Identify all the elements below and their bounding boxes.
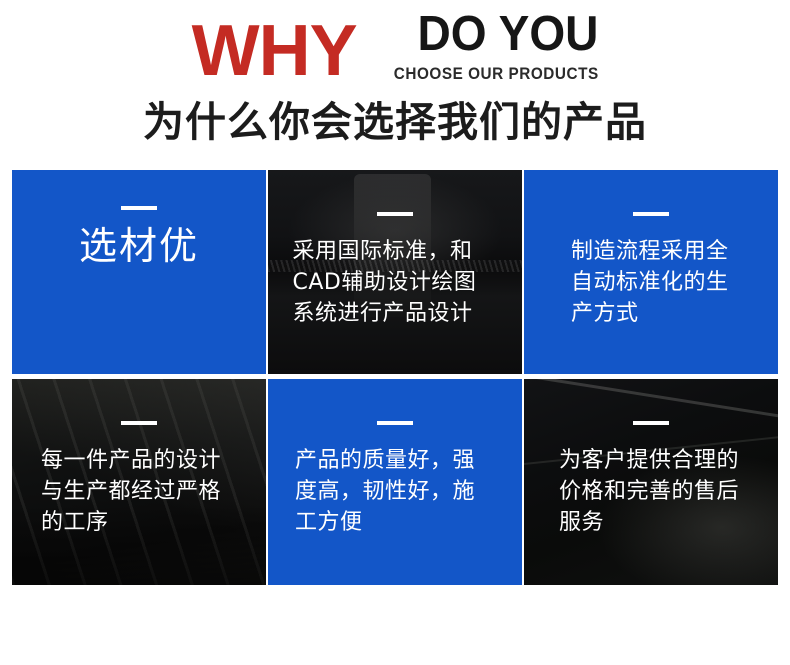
page-header: WHY DO YOU CHOOSE OUR PRODUCTS 为什么你会选择我们… <box>0 0 790 143</box>
feature-card-grid: 选材优 采用国际标准，和CAD辅助设计绘图系统进行产品设计 制造流程采用全自动标… <box>12 170 778 585</box>
feature-card-5-content: 产品的质量好，强度高，韧性好，施工方便 <box>268 379 522 539</box>
feature-card-1-content: 选材优 <box>12 170 266 270</box>
headline-chinese: 为什么你会选择我们的产品 <box>0 102 790 143</box>
feature-card-6[interactable]: 为客户提供合理的价格和完善的售后服务 <box>524 379 778 585</box>
feature-card-5-text: 产品的质量好，强度高，韧性好，施工方便 <box>295 445 495 539</box>
feature-card-3[interactable]: 制造流程采用全自动标准化的生产方式 <box>524 170 778 374</box>
divider-dash-icon <box>633 421 669 425</box>
divider-dash-icon <box>121 206 157 210</box>
divider-dash-icon <box>377 421 413 425</box>
feature-card-6-content: 为客户提供合理的价格和完善的售后服务 <box>524 379 778 539</box>
feature-card-2-content: 采用国际标准，和CAD辅助设计绘图系统进行产品设计 <box>268 170 522 330</box>
feature-card-1-text: 选材优 <box>79 224 199 270</box>
feature-card-5[interactable]: 产品的质量好，强度高，韧性好，施工方便 <box>268 379 522 585</box>
divider-dash-icon <box>377 212 413 216</box>
title-right-block: DO YOU CHOOSE OUR PRODUCTS <box>371 11 599 84</box>
title-primary: WHY <box>192 18 357 84</box>
title-secondary: DO YOU <box>417 11 598 58</box>
divider-dash-icon <box>121 421 157 425</box>
feature-card-3-text: 制造流程采用全自动标准化的生产方式 <box>571 236 731 330</box>
feature-card-2[interactable]: 采用国际标准，和CAD辅助设计绘图系统进行产品设计 <box>268 170 522 374</box>
title-subtitle: CHOOSE OUR PRODUCTS <box>393 65 598 82</box>
feature-card-6-text: 为客户提供合理的价格和完善的售后服务 <box>559 445 743 539</box>
feature-card-2-text: 采用国际标准，和CAD辅助设计绘图系统进行产品设计 <box>293 236 498 330</box>
feature-card-4[interactable]: 每一件产品的设计与生产都经过严格的工序 <box>12 379 266 585</box>
feature-card-3-content: 制造流程采用全自动标准化的生产方式 <box>524 170 778 330</box>
feature-card-1[interactable]: 选材优 <box>12 170 266 374</box>
feature-card-4-text: 每一件产品的设计与生产都经过严格的工序 <box>41 445 237 539</box>
divider-dash-icon <box>633 212 669 216</box>
feature-card-4-content: 每一件产品的设计与生产都经过严格的工序 <box>12 379 266 539</box>
title-line: WHY DO YOU CHOOSE OUR PRODUCTS <box>0 18 790 84</box>
